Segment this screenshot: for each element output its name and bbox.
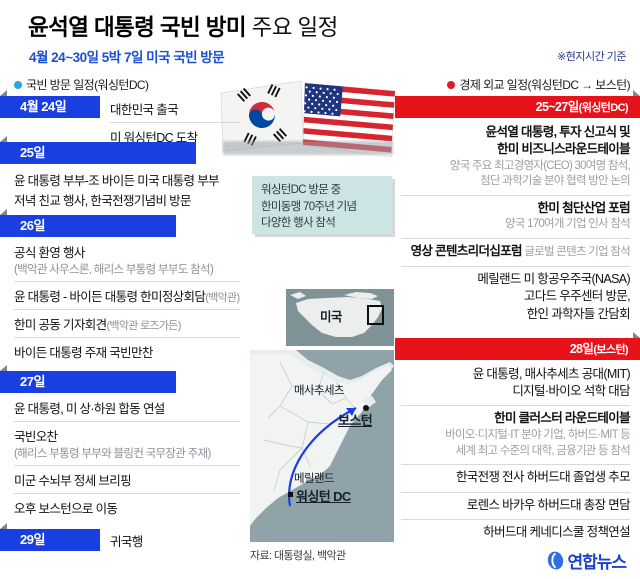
list-item-main-2: 한미 비즈니스라운드테이블 — [401, 141, 630, 158]
list-item-main-2: 디지털·바이오 석학 대담 — [401, 383, 630, 400]
map-label-washington-dc: 워싱턴 DC — [296, 486, 351, 505]
right-group-28: 28일(보스턴) 윤 대통령, 매사추세츠 공대(MIT) 디지털·바이오 석학… — [395, 338, 640, 546]
date-badge-25-27-label: 25~27일 — [536, 100, 579, 114]
right-group-25-27: 25~27일(워싱턴DC) 윤석열 대통령, 투자 신고식 및 한미 비즈니스라… — [395, 96, 640, 328]
date-badge-apr24: 4월 24일 — [0, 96, 100, 118]
map-square-washington — [288, 492, 293, 497]
list-item-main: 공식 환영 행사 — [14, 242, 240, 261]
list-item: 오후 보스턴으로 이동 — [14, 494, 240, 521]
left-group-29: 29일 귀국행 — [0, 529, 250, 559]
map-label-massachusetts: 매사추세츠 — [294, 382, 344, 398]
date-badge-28-place: (보스턴) — [593, 344, 628, 356]
list-item: 한미 공동 기자회견(백악관 로즈가든) — [14, 310, 240, 338]
legend-red-dot-icon — [447, 81, 455, 89]
list-item: 한국전쟁 전사 하버드대 졸업생 추모 — [401, 465, 630, 492]
date-badge-25-label: 25일 — [0, 145, 45, 160]
usa-overview-map: 미국 — [286, 289, 394, 346]
list-item-main: 한미 첨단산업 포럼 — [401, 200, 630, 217]
right-group-28-items: 윤 대통령, 매사추세츠 공대(MIT) 디지털·바이오 석학 대담 한미 클러… — [395, 360, 640, 546]
list-item: 메릴랜드 미 항공우주국(NASA) 고다드 우주센터 방문, 한인 과학자들 … — [401, 267, 630, 328]
list-item-main: 한미 공동 기자회견 — [14, 318, 106, 332]
list-item-main: 한미 클러스터 라운드테이블 — [401, 410, 630, 427]
list-item: 공식 환영 행사 (백악관 사우스론, 해리스 부통령 부부도 참석) — [14, 237, 240, 282]
date-badge-25: 25일 — [0, 142, 196, 164]
list-item-inline-sub: (백악관) — [205, 292, 239, 304]
list-item: 한미 클러스터 라운드테이블 바이오·디지털·IT 분야 기업, 하버드·MIT… — [401, 406, 630, 465]
list-item: 한미 첨단산업 포럼 양국 170여개 기업 인사 참석 — [401, 196, 630, 239]
list-item: 윤석열 대통령, 투자 신고식 및 한미 비즈니스라운드테이블 양국 주요 최고… — [401, 118, 630, 196]
list-item-main: 윤 대통령, 매사추세츠 공대(MIT) — [401, 366, 630, 383]
list-item: 윤 대통령 - 바이든 대통령 한미정상회담(백악관) — [14, 282, 240, 310]
list-item: 윤 대통령, 미 상·하원 합동 연설 — [14, 393, 240, 422]
left-group-26: 26일 공식 환영 행사 (백악관 사우스론, 해리스 부통령 부부도 참석) … — [0, 215, 250, 365]
list-item-sub-2: 세계 최고 수준의 대학, 금융기관 등 참석 — [401, 444, 630, 460]
legend-economic-diplomacy-label: 경제 외교 일정(워싱턴DC → 보스턴) — [459, 76, 630, 93]
right-group-25-27-items: 윤석열 대통령, 투자 신고식 및 한미 비즈니스라운드테이블 양국 주요 최고… — [395, 118, 640, 328]
legend-economic-diplomacy: 경제 외교 일정(워싱턴DC → 보스턴) — [447, 76, 630, 93]
list-item-main: 영상 콘텐츠리더십포럼 — [411, 244, 522, 258]
date-badge-29: 29일 — [0, 529, 100, 551]
callout-line-1: 워싱턴DC 방문 중 — [261, 182, 384, 199]
page-title-rest: 주요 일정 — [246, 15, 338, 40]
list-item-sub: 바이오·디지털·IT 분야 기업, 하버드·MIT 등 — [401, 428, 630, 444]
list-item-main: 윤석열 대통령, 투자 신고식 및 — [401, 124, 630, 141]
left-group-27-items: 윤 대통령, 미 상·하원 합동 연설 국빈오찬 (해리스 부통령 부부와 블링… — [0, 393, 250, 521]
left-group-27: 27일 윤 대통령, 미 상·하원 합동 연설 국빈오찬 (해리스 부통령 부부… — [0, 371, 250, 521]
northeast-detail-map-svg — [250, 350, 394, 542]
list-item: 윤 대통령, 매사추세츠 공대(MIT) 디지털·바이오 석학 대담 — [401, 360, 630, 407]
date-badge-28: 28일(보스턴) — [395, 338, 640, 360]
map-label-maryland: 메릴랜드 — [294, 470, 334, 486]
page-title-bold: 윤석열 대통령 국빈 방미 — [28, 15, 246, 40]
list-item-inline-sub: (백악관 로즈가든) — [106, 320, 180, 332]
list-item: 윤 대통령 부부-조 바이든 미국 대통령 부부 — [14, 164, 236, 189]
list-item: 바이든 대통령 주재 국빈만찬 — [14, 338, 240, 365]
date-badge-29-label: 29일 — [0, 532, 45, 547]
list-item: 영상 콘텐츠리더십포럼 글로벌 콘텐츠 기업 참석 — [401, 239, 630, 267]
list-item-inline-sub: 글로벌 콘텐츠 기업 참석 — [522, 246, 630, 258]
callout-line-2: 한미동맹 70주년 기념 — [261, 199, 384, 216]
timezone-note: ※현지시간 기준 — [557, 48, 626, 64]
list-item-sub: 양국 170여개 기업 인사 참석 — [401, 217, 630, 233]
legend-state-visit: 국빈 방문 일정(워싱턴DC) — [14, 76, 148, 93]
list-item: 국빈오찬 (해리스 부통령 부부와 블링컨 국무장관 주재) — [14, 422, 240, 466]
date-badge-27: 27일 — [0, 371, 176, 393]
map-dot-boston — [363, 405, 369, 411]
page-subtitle: 4월 24~30일 5박 7일 미국 국빈 방문 — [29, 46, 224, 66]
usa-overview-map-label: 미국 — [320, 306, 342, 325]
date-badge-27-label: 27일 — [0, 374, 45, 389]
right-schedule-column: 25~27일(워싱턴DC) 윤석열 대통령, 투자 신고식 및 한미 비즈니스라… — [395, 96, 640, 546]
date-badge-26-label: 26일 — [0, 218, 45, 233]
page-title: 윤석열 대통령 국빈 방미 주요 일정 — [28, 10, 338, 42]
callout-line-3: 다양한 행사 참석 — [261, 215, 384, 232]
list-item-main-3: 한인 과학자들 간담회 — [401, 306, 630, 323]
source-note: 자료: 대통령실, 백악관 — [250, 547, 346, 563]
infographic-page: 윤석열 대통령 국빈 방미 주요 일정 4월 24~30일 5박 7일 미국 국… — [0, 0, 640, 579]
left-group-apr24: 4월 24일 대한민국 출국 미 워싱턴DC 도착 — [0, 96, 250, 142]
legend-state-visit-label: 국빈 방문 일정(워싱턴DC) — [26, 76, 148, 93]
date-badge-25-27-place: (워싱턴DC) — [579, 102, 628, 114]
list-item: 미군 수뇌부 정세 브리핑 — [14, 466, 240, 494]
list-item: 하버드대 케네디스쿨 정책연설 — [401, 520, 630, 546]
list-item: 귀국행 — [110, 530, 143, 554]
northeast-detail-map: 매사추세츠 보스턴 메릴랜드 워싱턴 DC — [250, 350, 394, 542]
list-item-main: 국빈오찬 — [14, 426, 240, 445]
list-item: 로렌스 바카우 하버드대 총장 면담 — [401, 493, 630, 520]
left-group-25: 25일 윤 대통령 부부-조 바이든 미국 대통령 부부 저녁 친교 행사, 한… — [0, 142, 250, 215]
list-item: 저녁 친교 행사, 한국전쟁기념비 방문 — [14, 189, 236, 215]
left-group-26-items: 공식 환영 행사 (백악관 사우스론, 해리스 부통령 부부도 참석) 윤 대통… — [0, 237, 250, 365]
left-group-25-items: 윤 대통령 부부-조 바이든 미국 대통령 부부 저녁 친교 행사, 한국전쟁기… — [0, 164, 250, 215]
left-schedule-column: 4월 24일 대한민국 출국 미 워싱턴DC 도착 25일 윤 대통령 부부-조… — [0, 96, 250, 559]
overview-map-focus-box — [367, 305, 384, 325]
list-item-sub: 양국 주요 최고경영자(CEO) 30여명 참석, — [401, 159, 630, 175]
date-badge-apr24-label: 4월 24일 — [0, 99, 66, 114]
date-badge-25-27: 25~27일(워싱턴DC) — [395, 96, 640, 118]
date-badge-26: 26일 — [0, 215, 176, 237]
list-item: 대한민국 출국 — [110, 95, 240, 123]
list-item-main: 메릴랜드 미 항공우주국(NASA) — [401, 271, 630, 288]
legend-blue-dot-icon — [14, 81, 22, 89]
list-item-main: 윤 대통령 - 바이든 대통령 한미정상회담 — [14, 290, 205, 304]
list-item-sub-2: 첨단 과학기술 분야 협력 방안 논의 — [401, 174, 630, 190]
map-label-boston: 보스턴 — [338, 410, 372, 429]
yonhap-logo-icon — [547, 551, 564, 570]
callout-box: 워싱턴DC 방문 중 한미동맹 70주년 기념 다양한 행사 참석 — [252, 176, 392, 234]
left-group-29-items: 귀국행 — [110, 530, 143, 554]
list-item-sub: (해리스 부통령 부부와 블링컨 국무장관 주재) — [14, 445, 240, 461]
date-badge-28-label: 28일 — [570, 342, 594, 356]
yonhap-logo: 연합뉴스 — [547, 548, 626, 573]
list-item-sub: (백악관 사우스론, 해리스 부통령 부부도 참석) — [14, 261, 240, 277]
yonhap-logo-text: 연합뉴스 — [567, 548, 626, 573]
list-item-main-2: 고다드 우주센터 방문, — [401, 288, 630, 305]
